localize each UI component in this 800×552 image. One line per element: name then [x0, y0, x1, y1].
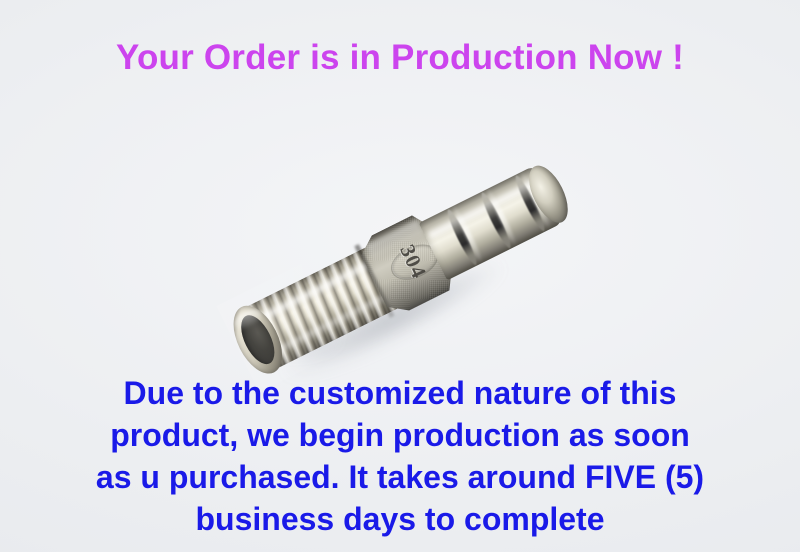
promo-banner: Your Order is in Production Now ! 304 — [0, 0, 800, 552]
notice-line-4: business days to complete — [0, 498, 800, 540]
production-notice: Due to the customized nature of this pro… — [0, 372, 800, 540]
product-photo: 304 — [0, 95, 800, 385]
page-title: Your Order is in Production Now ! — [0, 38, 800, 78]
notice-line-1: Due to the customized nature of this — [0, 372, 800, 414]
notice-line-2: product, we begin production as soon — [0, 414, 800, 456]
notice-line-3: as u purchased. It takes around FIVE (5) — [0, 456, 800, 498]
